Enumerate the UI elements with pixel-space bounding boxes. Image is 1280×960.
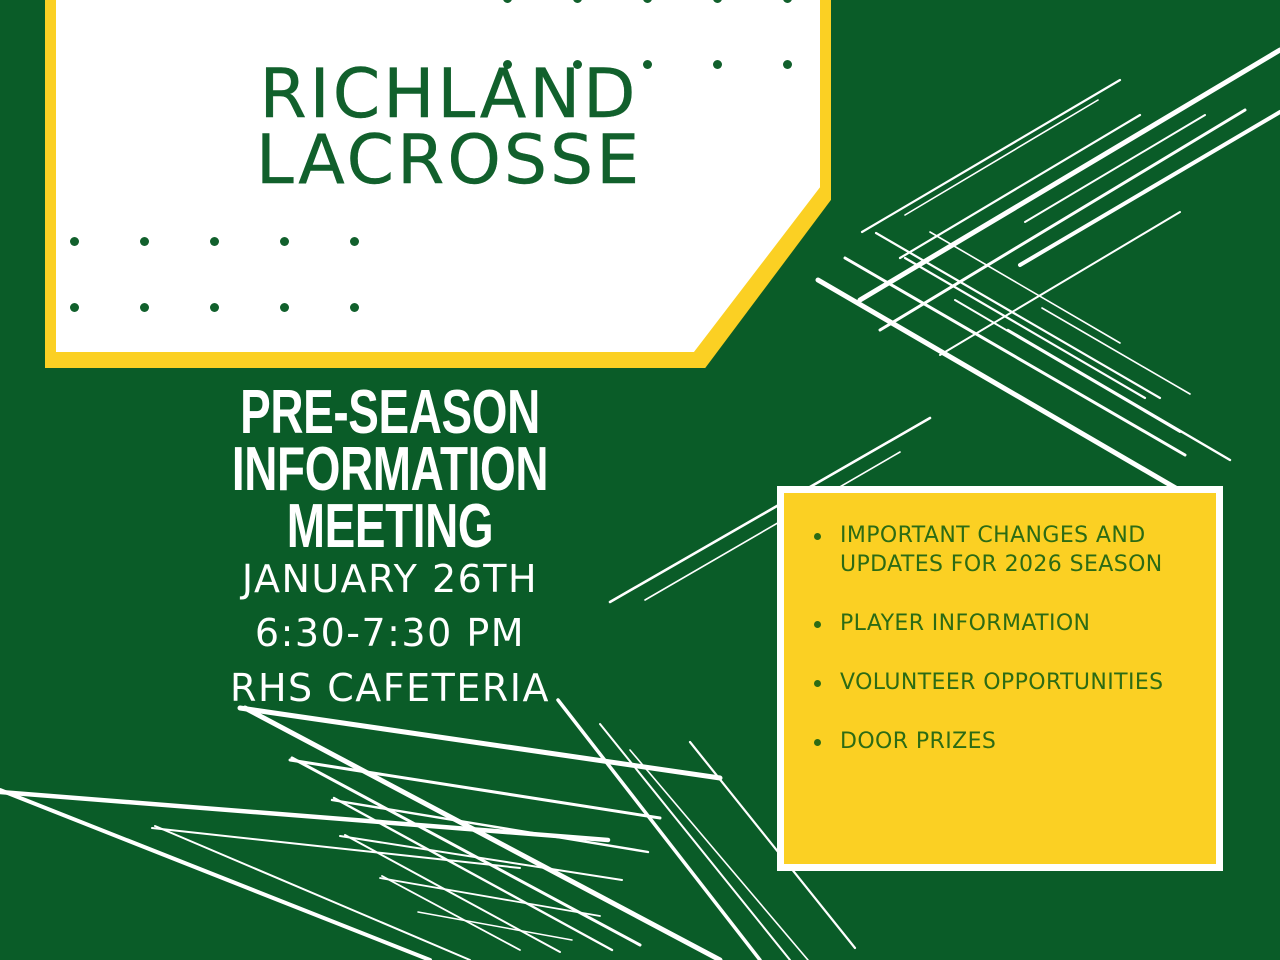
bullet-icon — [814, 533, 821, 540]
logo-line-2: LACROSSE — [129, 128, 769, 194]
header-plaque: RICHLAND LACROSSE — [56, 0, 820, 352]
event-details: JANUARY 26TH 6:30-7:30 PM RHS CAFETERIA — [60, 552, 720, 715]
agenda-card: IMPORTANT CHANGES AND UPDATES FOR 2026 S… — [784, 493, 1216, 864]
event-time: 6:30-7:30 PM — [60, 606, 720, 660]
list-item: VOLUNTEER OPPORTUNITIES — [806, 668, 1198, 697]
list-item: PLAYER INFORMATION — [806, 609, 1198, 638]
event-date: JANUARY 26TH — [60, 552, 720, 606]
list-item: IMPORTANT CHANGES AND UPDATES FOR 2026 S… — [806, 521, 1198, 579]
headline-line-2: MEETING — [146, 498, 634, 555]
agenda-card-border: IMPORTANT CHANGES AND UPDATES FOR 2026 S… — [777, 486, 1223, 871]
bullet-icon — [814, 739, 821, 746]
list-item-label: PLAYER INFORMATION — [840, 611, 1090, 636]
logo-wordmark: RICHLAND LACROSSE — [129, 62, 769, 194]
list-item-label: DOOR PRIZES — [840, 729, 996, 754]
dot-grid-bottom-icon — [70, 237, 359, 312]
logo-line-1: RICHLAND — [129, 62, 769, 128]
list-item-label: VOLUNTEER OPPORTUNITIES — [840, 670, 1164, 695]
list-item-label: IMPORTANT CHANGES AND UPDATES FOR 2026 S… — [840, 523, 1163, 577]
agenda-list: IMPORTANT CHANGES AND UPDATES FOR 2026 S… — [806, 521, 1198, 756]
header-plaque-border: RICHLAND LACROSSE — [45, 0, 831, 368]
bullet-icon — [814, 680, 821, 687]
page-title: PRE-SEASON INFORMATION MEETING — [146, 384, 634, 555]
event-location: RHS CAFETERIA — [60, 661, 720, 715]
headline-line-1: PRE-SEASON INFORMATION — [146, 384, 634, 498]
bullet-icon — [814, 621, 821, 628]
event-flyer: RICHLAND LACROSSE PRE-SEASON INFORMATION… — [0, 0, 1280, 960]
list-item: DOOR PRIZES — [806, 727, 1198, 756]
